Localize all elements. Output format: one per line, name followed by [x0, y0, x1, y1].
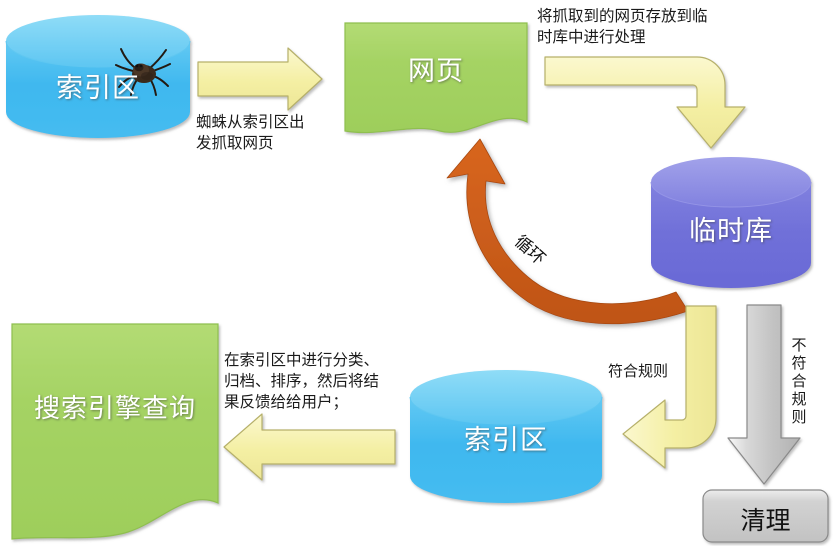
edge-spider-fetch-arrow	[198, 48, 322, 110]
node-index-zone-bottom[interactable]	[410, 370, 602, 503]
node-cleanup-label: 清理	[703, 501, 828, 537]
edge-store-to-temp-arrow	[545, 57, 745, 148]
edge-spider-fetch-label: 蜘蛛从索引区出 发抓取网页	[196, 112, 346, 154]
edge-feedback-label: 在索引区中进行分类、 归档、排序，然后将结 果反馈给给用户；	[224, 350, 414, 413]
edge-match-rule-arrow	[623, 306, 716, 468]
edge-no-match-rule-label: 不符合规则	[790, 337, 808, 427]
edge-match-rule-label: 符合规则	[608, 362, 688, 382]
diagram-canvas: 索引区 网页 临时库 索引区 搜索引擎查询 清理 蜘蛛从索引区出 发抓取网页 将…	[0, 0, 834, 546]
node-temp-store[interactable]	[651, 157, 811, 288]
edge-feedback-arrow	[224, 414, 395, 480]
node-search-query[interactable]	[12, 324, 218, 539]
node-web-page[interactable]	[345, 23, 527, 133]
spider-icon	[113, 44, 171, 100]
edge-store-to-temp-label: 将抓取到的网页存放到临 时库中进行处理	[537, 6, 757, 48]
spider-icon-svg	[113, 44, 171, 100]
